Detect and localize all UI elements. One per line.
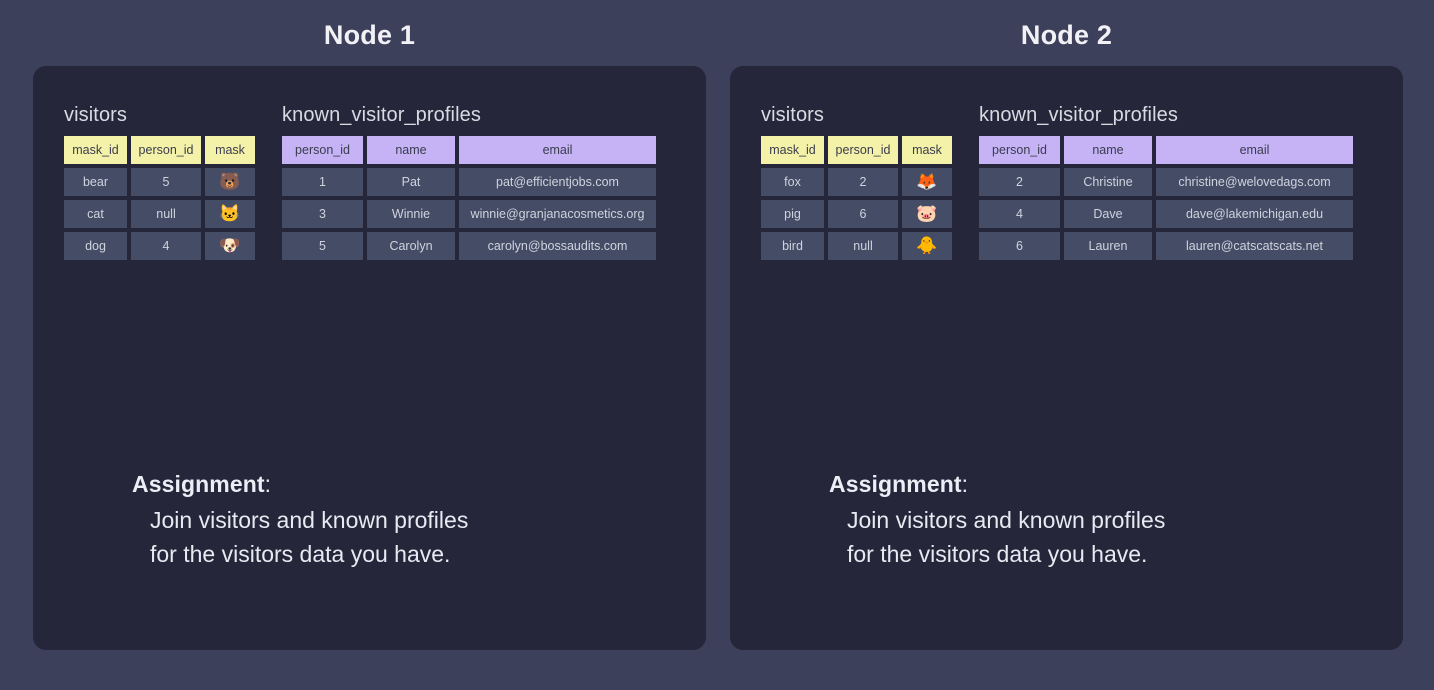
- cell-email: pat@efficientjobs.com: [459, 168, 656, 196]
- table-row: 1 Pat pat@efficientjobs.com: [282, 168, 656, 196]
- cell-email: lauren@catscatscats.net: [1156, 232, 1353, 260]
- assignment-label: Assignment:: [132, 471, 468, 498]
- cell-person-id: 5: [282, 232, 363, 260]
- column-header-name: name: [367, 136, 455, 164]
- node-2-profiles-table-block: known_visitor_profiles person_id name em…: [979, 104, 1353, 260]
- node-2-visitors-table-block: visitors mask_id person_id mask fox 2 🦊 …: [761, 104, 952, 260]
- cell-person-id: 6: [828, 200, 898, 228]
- cell-person-id: null: [131, 200, 201, 228]
- node-1-visitors-table-block: visitors mask_id person_id mask bear 5 🐻…: [64, 104, 255, 260]
- cell-name: Pat: [367, 168, 455, 196]
- cell-person-id: 4: [979, 200, 1060, 228]
- table-row: 5 Carolyn carolyn@bossaudits.com: [282, 232, 656, 260]
- cell-mask-emoji: 🐥: [902, 232, 952, 260]
- table-row: cat null 🐱: [64, 200, 255, 228]
- node-1-visitors-grid: mask_id person_id mask bear 5 🐻 cat null…: [64, 136, 255, 260]
- cell-mask-emoji: 🐱: [205, 200, 255, 228]
- column-header-person-id: person_id: [979, 136, 1060, 164]
- node-1-panel: visitors mask_id person_id mask bear 5 🐻…: [33, 66, 706, 650]
- table-row: pig 6 🐷: [761, 200, 952, 228]
- column-header-name: name: [1064, 136, 1152, 164]
- cell-person-id: 6: [979, 232, 1060, 260]
- node-2-profiles-caption: known_visitor_profiles: [979, 104, 1353, 127]
- cell-name: Dave: [1064, 200, 1152, 228]
- column-header-email: email: [459, 136, 656, 164]
- column-header-mask: mask: [902, 136, 952, 164]
- column-header-person-id: person_id: [828, 136, 898, 164]
- cell-mask-id: cat: [64, 200, 127, 228]
- table-row: 3 Winnie winnie@granjanacosmetics.org: [282, 200, 656, 228]
- cell-name: Winnie: [367, 200, 455, 228]
- node-1-profiles-caption: known_visitor_profiles: [282, 104, 656, 127]
- node-1-visitors-caption: visitors: [64, 104, 255, 127]
- cell-name: Lauren: [1064, 232, 1152, 260]
- cell-person-id: 4: [131, 232, 201, 260]
- cell-mask-id: dog: [64, 232, 127, 260]
- table-header-row: person_id name email: [282, 136, 656, 164]
- node-1-tables: visitors mask_id person_id mask bear 5 🐻…: [64, 104, 687, 260]
- cell-person-id: 2: [979, 168, 1060, 196]
- assignment-line-2: for the visitors data you have.: [150, 537, 468, 571]
- cell-person-id: 1: [282, 168, 363, 196]
- cell-mask-emoji: 🐻: [205, 168, 255, 196]
- cell-email: winnie@granjanacosmetics.org: [459, 200, 656, 228]
- table-row: fox 2 🦊: [761, 168, 952, 196]
- cell-name: Carolyn: [367, 232, 455, 260]
- assignment-line-1: Join visitors and known profiles: [847, 503, 1165, 537]
- cell-person-id: 2: [828, 168, 898, 196]
- cell-mask-id: fox: [761, 168, 824, 196]
- cell-mask-id: bird: [761, 232, 824, 260]
- table-row: dog 4 🐶: [64, 232, 255, 260]
- cell-mask-id: bear: [64, 168, 127, 196]
- column-header-mask-id: mask_id: [64, 136, 127, 164]
- column-header-person-id: person_id: [131, 136, 201, 164]
- cell-mask-id: pig: [761, 200, 824, 228]
- node-2-panel: visitors mask_id person_id mask fox 2 🦊 …: [730, 66, 1403, 650]
- cell-email: dave@lakemichigan.edu: [1156, 200, 1353, 228]
- column-header-person-id: person_id: [282, 136, 363, 164]
- table-row: bear 5 🐻: [64, 168, 255, 196]
- node-2-tables: visitors mask_id person_id mask fox 2 🦊 …: [761, 104, 1384, 260]
- node-1-profiles-grid: person_id name email 1 Pat pat@efficient…: [282, 136, 656, 260]
- node-1-title: Node 1: [33, 20, 706, 51]
- cell-name: Christine: [1064, 168, 1152, 196]
- cell-mask-emoji: 🐶: [205, 232, 255, 260]
- assignment-line-1: Join visitors and known profiles: [150, 503, 468, 537]
- node-1-assignment: Assignment: Join visitors and known prof…: [132, 471, 468, 571]
- node-2-assignment: Assignment: Join visitors and known prof…: [829, 471, 1165, 571]
- table-header-row: mask_id person_id mask: [761, 136, 952, 164]
- assignment-label-text: Assignment: [132, 471, 265, 497]
- table-row: 6 Lauren lauren@catscatscats.net: [979, 232, 1353, 260]
- node-2-profiles-grid: person_id name email 2 Christine christi…: [979, 136, 1353, 260]
- table-row: 2 Christine christine@welovedags.com: [979, 168, 1353, 196]
- cell-email: carolyn@bossaudits.com: [459, 232, 656, 260]
- table-row: bird null 🐥: [761, 232, 952, 260]
- cell-person-id: null: [828, 232, 898, 260]
- node-1-profiles-table-block: known_visitor_profiles person_id name em…: [282, 104, 656, 260]
- table-header-row: person_id name email: [979, 136, 1353, 164]
- cell-mask-emoji: 🐷: [902, 200, 952, 228]
- column-header-mask: mask: [205, 136, 255, 164]
- assignment-line-2: for the visitors data you have.: [847, 537, 1165, 571]
- cell-person-id: 5: [131, 168, 201, 196]
- cell-email: christine@welovedags.com: [1156, 168, 1353, 196]
- column-header-mask-id: mask_id: [761, 136, 824, 164]
- node-2-visitors-caption: visitors: [761, 104, 952, 127]
- assignment-label-text: Assignment: [829, 471, 962, 497]
- table-row: 4 Dave dave@lakemichigan.edu: [979, 200, 1353, 228]
- assignment-body: Join visitors and known profiles for the…: [150, 503, 468, 571]
- node-2-visitors-grid: mask_id person_id mask fox 2 🦊 pig 6 🐷: [761, 136, 952, 260]
- cell-person-id: 3: [282, 200, 363, 228]
- assignment-label: Assignment:: [829, 471, 1165, 498]
- column-header-email: email: [1156, 136, 1353, 164]
- slide-canvas: Node 1 visitors mask_id person_id mask b…: [0, 0, 1434, 690]
- assignment-colon: :: [265, 471, 272, 497]
- node-2-title: Node 2: [730, 20, 1403, 51]
- table-header-row: mask_id person_id mask: [64, 136, 255, 164]
- cell-mask-emoji: 🦊: [902, 168, 952, 196]
- assignment-body: Join visitors and known profiles for the…: [847, 503, 1165, 571]
- assignment-colon: :: [962, 471, 969, 497]
